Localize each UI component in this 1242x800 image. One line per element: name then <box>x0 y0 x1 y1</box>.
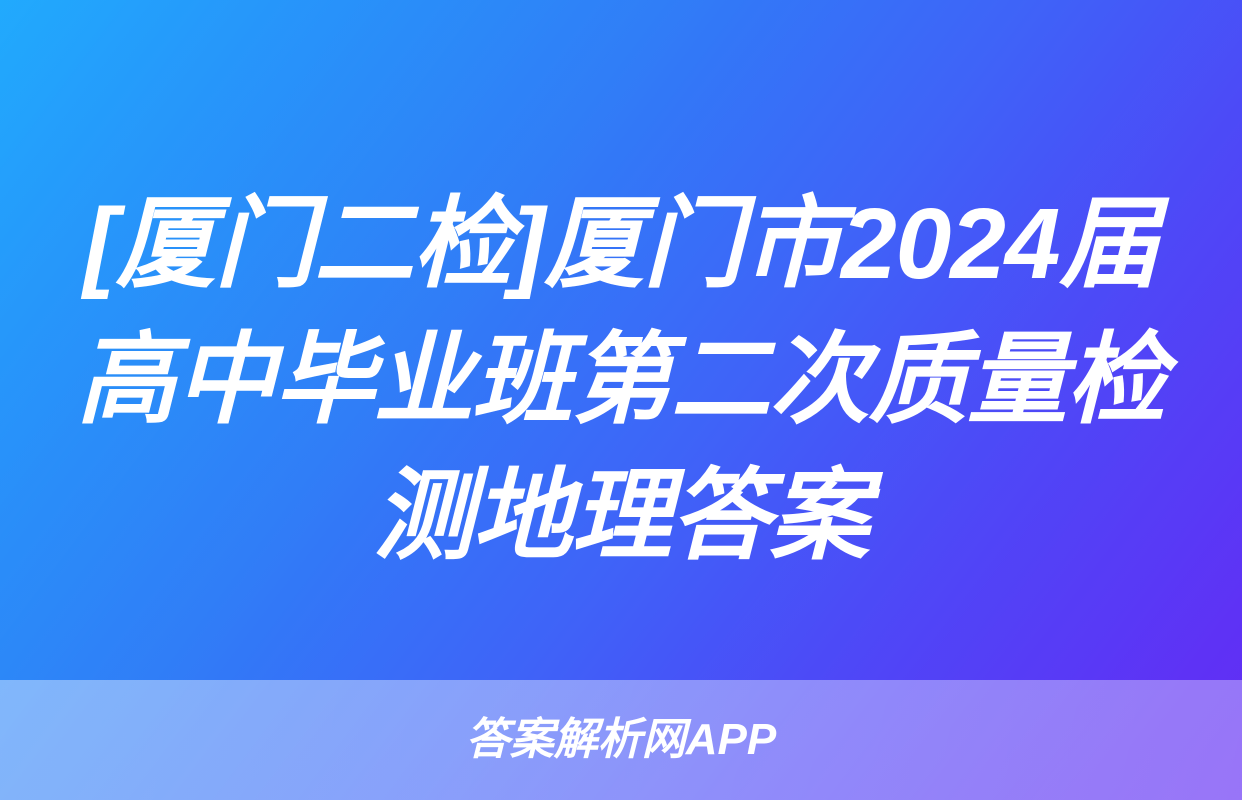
page-title: [厦门二检]厦门市2024届高中毕业班第二次质量检测地理答案 <box>62 176 1180 584</box>
footer-brand-band: 答案解析网APP <box>0 680 1242 800</box>
title-block: [厦门二检]厦门市2024届高中毕业班第二次质量检测地理答案 <box>0 176 1242 584</box>
footer-brand-label: 答案解析网APP <box>466 714 776 766</box>
poster-canvas: [厦门二检]厦门市2024届高中毕业班第二次质量检测地理答案 答案解析网APP <box>0 0 1242 800</box>
